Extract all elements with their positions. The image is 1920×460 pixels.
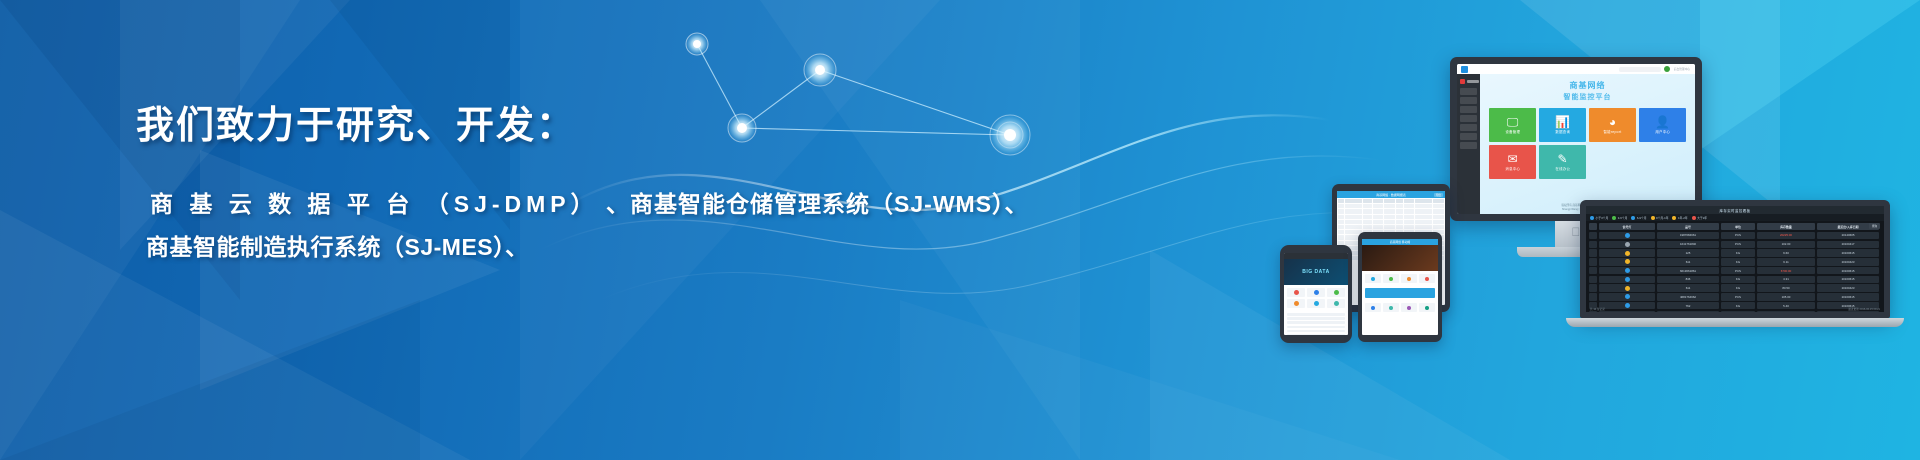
legend-label: 9个月-1年 [1656,216,1668,220]
table-cell [1415,215,1432,219]
table-cell [1433,225,1444,229]
phone-hero-text: BIG DATA [1302,269,1329,275]
stock-qty-cell: 20225.00 [1757,232,1815,239]
table-cell [1433,199,1444,203]
tablet-app-icon-1[interactable] [1383,303,1399,312]
table-cell [1338,225,1344,229]
table-cell [1415,199,1432,203]
table-cell [1363,215,1372,219]
app-glyph-icon [1334,301,1339,306]
table-cell [1396,209,1403,213]
last-movement-date-cell: 20160615 [1817,267,1879,274]
table-row [1338,209,1444,213]
table-cell [1338,204,1344,208]
last-movement-date-cell: 20160615 [1817,293,1879,300]
table-row [1338,225,1444,229]
stock-qty-cell: 9.60 [1757,249,1815,256]
page-title: 我们致力于研究、开发： [136,94,576,149]
tablet-app-icon-2[interactable] [1401,303,1417,312]
legend-label: 小于3个月 [1596,216,1609,220]
table-cell [1404,220,1413,224]
status-light-icon [1625,277,1630,282]
last-movement-date-cell: 20160423 [1817,284,1879,291]
tile-label: 消息中心 [1505,167,1520,172]
part-number-cell: 125 [1657,249,1719,256]
table-cell [1373,204,1382,208]
app-glyph-icon [1294,301,1299,306]
hero-title-secondary: 智能监控平台 [1485,92,1690,102]
status-indicator-cell [1599,249,1655,256]
sidebar-item-3[interactable] [1460,115,1477,122]
device-mockups: 后台管理中心 [1120,0,1920,460]
table-cell [1415,220,1432,224]
unit-cell: KG [1721,258,1755,265]
pie-chart-icon: ◕ [1609,116,1616,128]
status-light-icon [1625,294,1630,299]
imac-sidebar [1457,74,1480,214]
tile-online-office[interactable]: ✎ 在线办公 [1539,145,1586,179]
table-row[interactable]: 1641761846PCS102.0020160417 [1589,241,1881,248]
envelope-icon: ✉ [1507,153,1517,165]
product-line-1-part-b: 、商基智能仓储管理系统（SJ-WMS）、 [599,191,1029,217]
status-light-icon [1625,251,1630,256]
unit-cell: PCS [1721,267,1755,274]
phone-app-icon-2[interactable] [1327,288,1345,297]
last-updated: 最近更新 2016-06-15 09:21 [1848,307,1880,311]
stock-qty-cell: 105.00 [1757,293,1815,300]
table-cell [1384,199,1395,203]
tile-message-center[interactable]: ✉ 消息中心 [1489,145,1536,179]
edit-icon: ✎ [1557,153,1567,165]
table-cell [1373,209,1382,213]
table-cell [1396,215,1403,219]
imac-main: 商基网络 智能监控平台 🖵 设备管理 📊 数据查询 [1480,74,1695,214]
legend-item-3: 9个月-1年 [1651,216,1669,220]
imac-body: 商基网络 智能监控平台 🖵 设备管理 📊 数据查询 [1457,74,1695,214]
export-button[interactable]: 导出 [1434,193,1443,197]
legend-dot-icon [1672,216,1676,220]
table-cell [1373,225,1382,229]
tablet-portrait-banner [1365,288,1435,298]
sidebar-item-1[interactable] [1460,97,1477,104]
tablet-portrait-icon-grid-2 [1362,300,1438,315]
table-cell [1345,215,1362,219]
status-indicator-cell [1599,241,1655,248]
status-indicator-cell [1599,293,1655,300]
table-row[interactable]: 6613661861PCS6700.0020160615 [1589,267,1881,274]
laptop-title: 库存实时监控看板 [1586,206,1884,214]
legend-dot-icon [1612,216,1616,220]
table-cell [1433,204,1444,208]
table-cell [1363,204,1372,208]
account-label[interactable]: 后台管理中心 [1674,67,1690,71]
row-select-checkbox[interactable] [1589,267,1597,274]
table-cell [1363,209,1372,213]
phone-app-icon-3[interactable] [1287,299,1305,308]
table-cell [1404,209,1413,213]
status-light-icon [1625,286,1630,291]
app-glyph-icon [1389,277,1393,281]
table-row [1338,220,1444,224]
sidebar-item-6[interactable] [1460,142,1477,149]
tile-smart-report[interactable]: ◕ 智能report [1589,108,1636,142]
phone-mockup: BIG DATA [1280,245,1352,343]
tablet-app-icon-1[interactable] [1383,274,1399,283]
legend-dot-icon [1631,216,1635,220]
table-cell [1345,204,1362,208]
table-row [1338,215,1444,219]
table-row[interactable]: 4681764662PCS105.0020160615 [1589,293,1881,300]
part-number-cell: 846 [1657,276,1719,283]
table-cell [1338,209,1344,213]
table-cell [1384,215,1395,219]
list-item[interactable] [1287,334,1345,335]
brand-text [1467,80,1479,83]
imac-bezel: 后台管理中心 [1450,57,1702,221]
status-indicator-cell [1599,276,1655,283]
legend-dot-icon [1590,216,1594,220]
query-button[interactable]: 查询 [1869,223,1880,229]
brand-mark-icon [1460,79,1465,84]
app-glyph-icon [1314,290,1319,295]
unit-cell: PCS [1721,241,1755,248]
legend-item-0: 小于3个月 [1590,216,1608,220]
table-cell [1384,204,1395,208]
hero-banner: 我们致力于研究、开发： 商 基 云 数 据 平 台 （SJ-DMP） 、商基智能… [0,0,1920,460]
tile-label: 在线办公 [1555,167,1570,172]
stock-qty-cell: 6700.00 [1757,267,1815,274]
unit-cell: PCS [1721,232,1755,239]
table-cell [1433,209,1444,213]
column-header[interactable]: 品号 [1657,223,1719,230]
tile-label: 设备管理 [1505,130,1520,135]
list-item[interactable] [1287,321,1345,324]
list-item[interactable] [1287,326,1345,329]
table-cell [1415,204,1432,208]
banner-copy: 我们致力于研究、开发： 商 基 云 数 据 平 台 （SJ-DMP） 、商基智能… [0,0,1000,460]
laptop-mockup: 库存实时监控看板 小于3个月3-6个月6-9个月9个月-1年1年-2年大于2年 … [1580,200,1890,335]
tablet-portrait-icon-grid [1362,271,1438,286]
table-header-row [1338,199,1444,203]
status-light-icon [1625,242,1630,247]
tile-label: 用户中心 [1655,130,1670,135]
table-cell [1338,199,1344,203]
monitor-icon: 🖵 [1507,116,1519,128]
table-cell [1345,225,1362,229]
phone-hero: BIG DATA [1284,259,1348,285]
column-header[interactable]: 单位 [1721,223,1755,230]
app-glyph-icon [1371,306,1375,310]
table-cell [1345,199,1362,203]
product-line-1-part-a: 商 基 云 数 据 平 台 （SJ-DMP） [150,191,599,217]
laptop-lid: 库存实时监控看板 小于3个月3-6个月6-9个月9个月-1年1年-2年大于2年 … [1580,200,1890,318]
avatar[interactable] [1664,66,1670,72]
table-cell [1396,220,1403,224]
product-line-1: 商 基 云 数 据 平 台 （SJ-DMP） 、商基智能仓储管理系统（SJ-WM… [150,185,1029,219]
last-movement-date-cell: 20160423 [1817,258,1879,265]
sidebar-item-4[interactable] [1460,124,1477,131]
table-cell [1404,204,1413,208]
last-movement-date-cell: 20140605 [1817,232,1879,239]
last-movement-date-cell: 20160417 [1817,241,1879,248]
table-cell [1338,215,1344,219]
laptop-legend: 小于3个月3-6个月6-9个月9个月-1年1年-2年大于2年 [1586,214,1884,221]
row-select-checkbox[interactable] [1589,241,1597,248]
part-number-cell: 1987684661 [1657,232,1719,239]
table-cell [1345,209,1362,213]
dashboard-tiles-row-1: 🖵 设备管理 📊 数据查询 ◕ 智能report [1485,108,1690,142]
laptop-data-table: 信号灯品号单位库存数量最近出/入库日期1987684661PCS20225.00… [1586,221,1884,312]
table-row[interactable]: 611KG80.5020160423 [1589,284,1881,291]
stock-qty-cell: 6.11 [1757,258,1815,265]
app-glyph-icon [1407,277,1411,281]
tablet-app-icon-3[interactable] [1419,303,1435,312]
tablet-portrait-hero [1362,245,1438,271]
status-indicator-cell [1599,258,1655,265]
table-cell [1384,225,1395,229]
unit-cell: KG [1721,276,1755,283]
table-cell [1345,220,1362,224]
part-number-cell: 611 [1657,258,1719,265]
table-row[interactable]: 125KG9.6020160615 [1589,249,1881,256]
part-number-cell: 1641761846 [1657,241,1719,248]
phone-list [1284,311,1348,335]
status-light-icon [1625,259,1630,264]
tablet-titlebar: 商基网络 · 数据明细表 导出 [1337,191,1445,198]
hero-title-primary: 商基网络 [1485,80,1690,91]
table-cell [1415,225,1432,229]
table-cell [1363,220,1372,224]
table-cell [1373,199,1382,203]
sidebar-item-0[interactable] [1460,88,1477,95]
imac-topbar: 后台管理中心 [1457,64,1695,74]
table-cell [1373,220,1382,224]
table-row[interactable]: 611KG6.1120160423 [1589,258,1881,265]
list-item[interactable] [1287,317,1345,320]
product-line-2: 商基智能制造执行系统（SJ-MES）、 [146,228,529,262]
imac-screen: 后台管理中心 [1457,64,1695,214]
table-cell [1384,209,1395,213]
table-row[interactable]: 846KG4.3120160615 [1589,276,1881,283]
unit-cell: KG [1721,249,1755,256]
column-header[interactable] [1589,223,1597,230]
legend-item-5: 大于2年 [1692,216,1707,220]
table-cell [1404,215,1413,219]
search-input[interactable] [1619,67,1661,72]
phone-app-icon-4[interactable] [1307,299,1325,308]
tile-label: 智能report [1603,130,1621,135]
column-header[interactable]: 库存数量 [1757,223,1815,230]
tablet-title: 商基网络 · 数据明细表 [1376,193,1406,197]
phone-app-icon-5[interactable] [1327,299,1345,308]
status-light-icon [1625,268,1630,273]
legend-item-1: 3-6个月 [1612,216,1627,220]
phone-screen: BIG DATA [1284,253,1348,335]
stock-qty-cell: 4.31 [1757,276,1815,283]
table-cell [1433,215,1444,219]
row-select-checkbox[interactable] [1589,232,1597,239]
sidebar-item-5[interactable] [1460,133,1477,140]
app-logo-icon [1461,66,1468,73]
tile-label: 数据查询 [1555,130,1570,135]
part-number-cell: 6613661861 [1657,267,1719,274]
phone-icon-grid [1284,285,1348,311]
unit-cell: PCS [1721,293,1755,300]
phone-app-icon-1[interactable] [1307,288,1325,297]
status-indicator-cell [1599,232,1655,239]
row-select-checkbox[interactable] [1589,284,1597,291]
legend-dot-icon [1692,216,1696,220]
table-row [1338,204,1444,208]
part-number-cell: 611 [1657,284,1719,291]
legend-item-2: 6-9个月 [1631,216,1646,220]
app-glyph-icon [1425,306,1429,310]
table-cell [1404,199,1413,203]
part-number-cell: 4681764662 [1657,293,1719,300]
stock-qty-cell: 102.00 [1757,241,1815,248]
table-cell [1363,199,1372,203]
app-glyph-icon [1407,306,1411,310]
dashboard-tiles-row-2: ✉ 消息中心 ✎ 在线办公 [1485,145,1690,179]
tablet-app-icon-0[interactable] [1365,303,1381,312]
laptop-base [1566,318,1904,327]
phone-app-icon-0[interactable] [1287,288,1305,297]
status-indicator-cell [1599,267,1655,274]
table-cell [1404,225,1413,229]
app-glyph-icon [1371,277,1375,281]
tablet-app-icon-0[interactable] [1365,274,1381,283]
table-cell [1338,235,1344,239]
status-light-icon [1625,233,1630,238]
list-item[interactable] [1287,313,1345,316]
unit-cell: KG [1721,284,1755,291]
table-row[interactable]: 1987684661PCS20225.0020140605 [1589,232,1881,239]
last-movement-date-cell: 20160615 [1817,276,1879,283]
tablet-app-icon-3[interactable] [1419,274,1435,283]
laptop-screen: 库存实时监控看板 小于3个月3-6个月6-9个月9个月-1年1年-2年大于2年 … [1586,206,1884,312]
legend-label: 1年-2年 [1678,216,1688,220]
table-cell [1363,225,1372,229]
tile-data-query[interactable]: 📊 数据查询 [1539,108,1586,142]
status-indicator-cell [1599,284,1655,291]
legend-label: 大于2年 [1697,216,1707,220]
column-header[interactable]: 信号灯 [1599,223,1655,230]
tablet-app-icon-2[interactable] [1401,274,1417,283]
legend-dot-icon [1651,216,1655,220]
tile-user-center[interactable]: 👤 用户中心 [1639,108,1686,142]
row-select-checkbox[interactable] [1589,249,1597,256]
legend-item-4: 1年-2年 [1672,216,1687,220]
table-cell [1373,215,1382,219]
table-cell [1338,230,1344,234]
row-select-checkbox[interactable] [1589,276,1597,283]
tablet-portrait-screen: 商基网络 移动端 [1362,239,1438,335]
row-select-checkbox[interactable] [1589,293,1597,300]
table-cell [1415,209,1432,213]
app-glyph-icon [1334,290,1339,295]
table-cell [1433,220,1444,224]
table-cell [1396,204,1403,208]
app-glyph-icon [1314,301,1319,306]
table-cell [1384,220,1395,224]
table-cell [1396,225,1403,229]
stock-qty-cell: 80.50 [1757,284,1815,291]
bar-chart-icon: 📊 [1555,116,1570,128]
app-glyph-icon [1425,277,1429,281]
table-cell [1396,199,1403,203]
tablet-portrait-mockup: 商基网络 移动端 [1358,232,1442,342]
legend-label: 6-9个月 [1637,216,1647,220]
laptop-footer: 共 10 条记录 最近更新 2016-06-15 09:21 [1586,307,1884,311]
tile-device-management[interactable]: 🖵 设备管理 [1489,108,1536,142]
legend-label: 3-6个月 [1618,216,1628,220]
sidebar-item-2[interactable] [1460,106,1477,113]
record-count: 共 10 条记录 [1590,307,1605,311]
last-movement-date-cell: 20160615 [1817,249,1879,256]
table-cell [1338,220,1344,224]
list-item[interactable] [1287,330,1345,333]
sidebar-brand [1457,77,1480,86]
app-glyph-icon [1389,306,1393,310]
row-select-checkbox[interactable] [1589,258,1597,265]
app-glyph-icon [1294,290,1299,295]
laptop-toolbar: 查询 [1869,223,1880,229]
table-header-row: 信号灯品号单位库存数量最近出/入库日期 [1589,223,1881,230]
imac-topbar-right: 后台管理中心 [1619,66,1691,72]
user-icon: 👤 [1655,116,1670,128]
